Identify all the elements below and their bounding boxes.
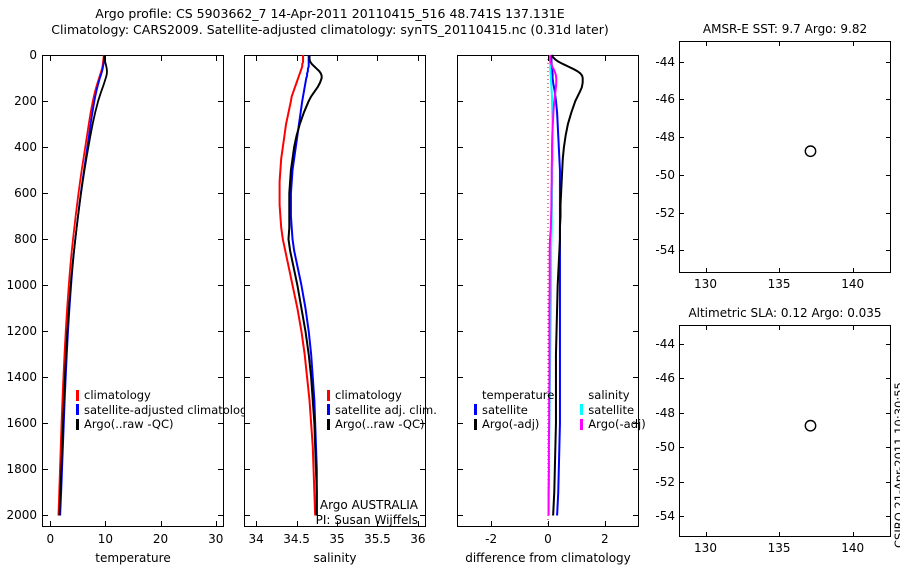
csiro-timestamp: CSIRO 21-Apr-2011 10:30:55 [892,382,900,548]
legend-heading: salinity [580,388,645,403]
axis-tick-mark [244,55,250,56]
axis-tick-mark [420,285,426,286]
legend-color-swatch [76,419,79,430]
legend-label: Argo(..raw -QC) [84,417,174,432]
axis-tick-mark [457,239,463,240]
axis-tick-mark [779,268,780,273]
axis-tick-label: 35.5 [364,532,391,546]
axis-tick-label: 0 [29,48,37,62]
axis-tick-mark [244,101,250,102]
axis-tick-mark [105,55,106,61]
axis-tick-mark [42,101,48,102]
legend-heading: temperature [474,388,554,403]
axis-tick-mark [244,285,250,286]
axis-tick-label: 400 [14,140,37,154]
axis-tick-mark [679,250,684,251]
legend-item: climatology [76,388,254,403]
axis-tick-label: -48 [655,406,675,420]
axis-tick-mark [42,239,48,240]
axis-tick-mark [853,532,854,537]
legend-label: satellite [482,403,528,418]
legend-color-swatch [327,404,330,415]
axis-tick-mark [886,447,891,448]
axis-tick-mark [886,213,891,214]
axis-tick-mark [633,239,639,240]
axis-tick-mark [377,55,378,61]
attribution-line-1: Argo AUSTRALIA [244,498,418,513]
axis-tick-mark [420,239,426,240]
axis-tick-label: -54 [655,509,675,523]
axis-tick-label: -52 [655,206,675,220]
axis-tick-mark [244,331,250,332]
axis-tick-mark [418,55,419,61]
axis-tick-mark [886,62,891,63]
axis-tick-mark [216,521,217,527]
temperature-axis-label: temperature [42,551,224,565]
axis-tick-mark [457,147,463,148]
axis-tick-mark [244,193,250,194]
legend-color-swatch [76,404,79,415]
axis-tick-mark [779,325,780,330]
axis-tick-mark [42,423,48,424]
axis-tick-label: 1200 [6,324,37,338]
axis-tick-mark [50,55,51,61]
axis-tick-mark [491,521,492,527]
axis-tick-label: 140 [841,541,864,555]
axis-tick-mark [42,515,48,516]
axis-tick-mark [886,250,891,251]
axis-tick-mark [161,521,162,527]
legend-item: satellite [474,403,554,418]
sst-profile-marker [679,41,891,273]
axis-tick-mark [457,193,463,194]
axis-tick-mark [42,469,48,470]
axis-tick-mark [548,55,549,61]
axis-tick-mark [706,41,707,46]
axis-tick-label: 140 [841,277,864,291]
legend-color-swatch [327,390,330,401]
axis-tick-mark [418,521,419,527]
axis-tick-label: -52 [655,475,675,489]
difference-curves [457,55,639,527]
legend-label: climatology [335,388,402,403]
axis-tick-label: -46 [655,371,675,385]
axis-tick-mark [886,175,891,176]
sla-map-title: Altimetric SLA: 0.12 Argo: 0.035 [679,306,891,320]
axis-tick-label: -50 [655,440,675,454]
axis-tick-mark [218,55,224,56]
axis-tick-mark [218,147,224,148]
axis-tick-mark [853,268,854,273]
axis-tick-mark [337,55,338,61]
axis-tick-label: 1000 [6,278,37,292]
axis-tick-mark [218,285,224,286]
legend-item: climatology [327,388,437,403]
axis-tick-label: 0 [544,532,552,546]
sla-profile-marker [679,325,891,537]
axis-tick-mark [161,55,162,61]
sst-map-title: AMSR-E SST: 9.7 Argo: 9.82 [679,22,891,36]
legend-label: Argo(-adj) [588,417,645,432]
legend-label: Argo(..raw -QC) [335,417,425,432]
legend-color-swatch [474,419,477,430]
legend-item: satellite [580,403,645,418]
axis-tick-label: 135 [768,541,791,555]
axis-tick-mark [42,285,48,286]
axis-tick-mark [244,239,250,240]
title-line-1: Argo profile: CS 5903662_7 14-Apr-2011 2… [0,6,660,22]
axis-tick-mark [633,515,639,516]
axis-tick-mark [244,423,250,424]
axis-tick-mark [42,377,48,378]
axis-tick-mark [886,99,891,100]
axis-tick-mark [42,55,48,56]
legend-column: salinitysatelliteArgo(-adj) [580,388,645,432]
axis-tick-mark [420,377,426,378]
axis-tick-mark [216,55,217,61]
legend-label: Argo(-adj) [482,417,539,432]
axis-tick-label: 1400 [6,370,37,384]
axis-tick-mark [706,268,707,273]
axis-tick-label: 0 [46,532,54,546]
axis-tick-label: 1600 [6,416,37,430]
axis-tick-mark [779,41,780,46]
axis-tick-mark [218,515,224,516]
axis-tick-label: 200 [14,94,37,108]
axis-tick-label: 2 [601,532,609,546]
legend-color-swatch [580,404,583,415]
legend-item: Argo(-adj) [474,417,554,432]
axis-tick-label: -44 [655,55,675,69]
axis-tick-label: 135 [768,277,791,291]
axis-tick-label: -46 [655,92,675,106]
attribution-line-2: PI: Susan Wijffels [244,513,418,528]
axis-tick-mark [457,377,463,378]
axis-tick-label: -50 [655,168,675,182]
axis-tick-label: -2 [485,532,497,546]
axis-tick-mark [886,516,891,517]
axis-tick-mark [679,344,684,345]
axis-tick-mark [679,413,684,414]
axis-tick-mark [633,147,639,148]
axis-tick-mark [42,331,48,332]
axis-tick-mark [420,101,426,102]
difference-axis-label: difference from climatology [457,551,639,565]
axis-tick-mark [886,344,891,345]
legend-label: satellite adj. clim. [335,403,437,418]
axis-tick-mark [244,147,250,148]
difference-legend: temperaturesatelliteArgo(-adj)salinitysa… [474,388,646,432]
axis-tick-mark [605,521,606,527]
axis-tick-mark [42,193,48,194]
axis-tick-mark [679,137,684,138]
axis-tick-mark [633,55,639,56]
axis-tick-mark [218,101,224,102]
axis-tick-mark [50,521,51,527]
axis-tick-mark [633,469,639,470]
axis-tick-mark [244,377,250,378]
salinity-axis-label: salinity [244,551,426,565]
axis-tick-label: 36 [410,532,425,546]
axis-tick-label: 600 [14,186,37,200]
axis-tick-mark [420,147,426,148]
legend-item: Argo(-adj) [580,417,645,432]
legend-item: Argo(..raw -QC) [327,417,437,432]
axis-tick-label: 130 [694,541,717,555]
axis-tick-mark [457,423,463,424]
axis-tick-mark [105,521,106,527]
axis-tick-label: 35 [329,532,344,546]
axis-tick-mark [605,55,606,61]
axis-tick-mark [679,62,684,63]
axis-tick-label: -48 [655,130,675,144]
axis-tick-mark [420,469,426,470]
temperature-legend: climatologysatellite-adjusted climatolog… [76,388,254,432]
axis-tick-mark [420,55,426,56]
axis-tick-mark [457,101,463,102]
legend-label: climatology [84,388,151,403]
axis-tick-mark [706,325,707,330]
axis-tick-mark [218,469,224,470]
axis-tick-mark [42,147,48,148]
axis-tick-mark [779,532,780,537]
legend-label: satellite [588,403,634,418]
axis-tick-mark [679,99,684,100]
axis-tick-mark [679,378,684,379]
axis-tick-mark [633,331,639,332]
axis-tick-label: 800 [14,232,37,246]
legend-item: Argo(..raw -QC) [76,417,254,432]
page-title: Argo profile: CS 5903662_7 14-Apr-2011 2… [0,6,660,38]
axis-tick-mark [297,55,298,61]
attribution-text: Argo AUSTRALIA PI: Susan Wijffels [244,498,418,527]
legend-color-swatch [474,404,477,415]
axis-tick-mark [218,193,224,194]
axis-tick-mark [457,515,463,516]
axis-tick-mark [218,331,224,332]
legend-item: satellite adj. clim. [327,403,437,418]
axis-tick-label: 1800 [6,462,37,476]
axis-tick-mark [706,532,707,537]
axis-tick-mark [457,331,463,332]
axis-tick-mark [548,521,549,527]
axis-tick-mark [218,377,224,378]
axis-tick-label: -44 [655,337,675,351]
axis-tick-mark [679,516,684,517]
axis-tick-mark [633,193,639,194]
axis-tick-mark [679,482,684,483]
legend-color-swatch [580,419,583,430]
axis-tick-label: -54 [655,243,675,257]
axis-tick-label: 10 [98,532,113,546]
axis-tick-mark [679,175,684,176]
temperature-curves [42,55,224,527]
axis-tick-mark [886,482,891,483]
axis-tick-mark [256,55,257,61]
axis-tick-mark [218,239,224,240]
axis-tick-mark [420,331,426,332]
title-line-2: Climatology: CARS2009. Satellite-adjuste… [0,22,660,38]
axis-tick-label: 20 [153,532,168,546]
axis-tick-mark [420,193,426,194]
axis-tick-mark [633,285,639,286]
axis-tick-label: 30 [208,532,223,546]
axis-tick-mark [886,137,891,138]
legend-label: satellite-adjusted climatology [84,403,254,418]
legend-color-swatch [327,419,330,430]
legend-color-swatch [76,390,79,401]
axis-tick-mark [886,413,891,414]
legend-item: satellite-adjusted climatology [76,403,254,418]
axis-tick-mark [679,447,684,448]
axis-tick-mark [853,325,854,330]
axis-tick-mark [886,378,891,379]
legend-column: temperaturesatelliteArgo(-adj) [474,388,554,432]
axis-tick-mark [457,285,463,286]
axis-tick-label: 2000 [6,508,37,522]
axis-tick-mark [633,101,639,102]
axis-tick-mark [420,515,426,516]
salinity-curves [244,55,426,527]
axis-tick-mark [679,213,684,214]
axis-tick-mark [491,55,492,61]
axis-tick-label: 130 [694,277,717,291]
axis-tick-label: 34 [248,532,263,546]
salinity-legend: climatologysatellite adj. clim.Argo(..ra… [327,388,437,432]
axis-tick-mark [853,41,854,46]
axis-tick-label: 34.5 [283,532,310,546]
axis-tick-mark [457,55,463,56]
axis-tick-mark [633,377,639,378]
axis-tick-mark [244,469,250,470]
axis-tick-mark [457,469,463,470]
